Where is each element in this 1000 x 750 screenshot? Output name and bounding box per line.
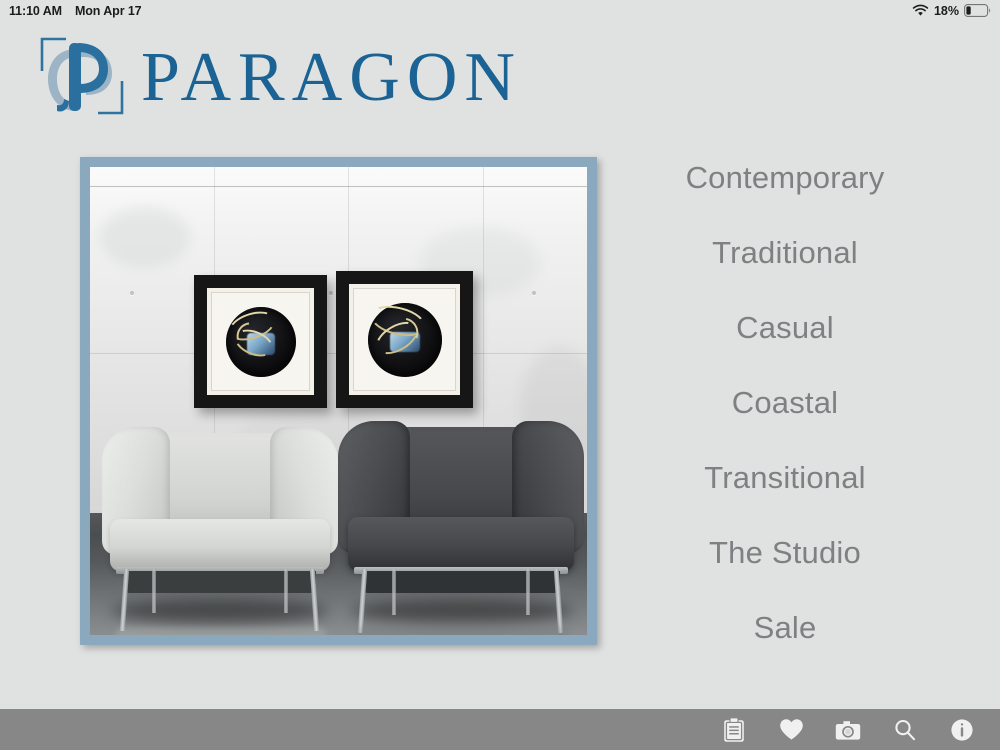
framed-artwork-left xyxy=(194,275,327,408)
brand-wordmark: PARAGON xyxy=(141,43,522,113)
menu-item-casual[interactable]: Casual xyxy=(600,290,970,365)
featured-room-photo[interactable] xyxy=(80,157,597,645)
status-bar-left: 11:10 AM Mon Apr 17 xyxy=(0,4,142,18)
light-armchair xyxy=(94,419,344,635)
room-photo-content xyxy=(90,167,587,635)
info-icon[interactable] xyxy=(948,716,976,744)
search-icon[interactable] xyxy=(891,716,919,744)
app-root: 11:10 AM Mon Apr 17 18% xyxy=(0,0,1000,750)
status-bar-right: 18% xyxy=(912,4,1000,18)
app-header: PARAGON xyxy=(0,21,1000,131)
paragon-monogram-logo xyxy=(32,31,132,126)
wifi-icon xyxy=(912,4,929,17)
menu-item-traditional[interactable]: Traditional xyxy=(600,215,970,290)
menu-item-the-studio[interactable]: The Studio xyxy=(600,515,970,590)
menu-item-transitional[interactable]: Transitional xyxy=(600,440,970,515)
camera-icon[interactable] xyxy=(834,716,862,744)
heart-icon[interactable] xyxy=(777,716,805,744)
menu-item-coastal[interactable]: Coastal xyxy=(600,365,970,440)
clipboard-icon[interactable] xyxy=(720,716,748,744)
framed-artwork-right xyxy=(336,271,473,408)
dark-armchair xyxy=(332,415,587,635)
status-date: Mon Apr 17 xyxy=(75,4,142,18)
status-time: 11:10 AM xyxy=(9,4,62,18)
status-bar: 11:10 AM Mon Apr 17 18% xyxy=(0,0,1000,21)
menu-item-sale[interactable]: Sale xyxy=(600,590,970,665)
category-menu: Contemporary Traditional Casual Coastal … xyxy=(600,140,970,665)
menu-item-contemporary[interactable]: Contemporary xyxy=(600,140,970,215)
battery-low-icon xyxy=(964,4,991,17)
battery-percent: 18% xyxy=(934,4,959,18)
bottom-toolbar xyxy=(0,709,1000,750)
